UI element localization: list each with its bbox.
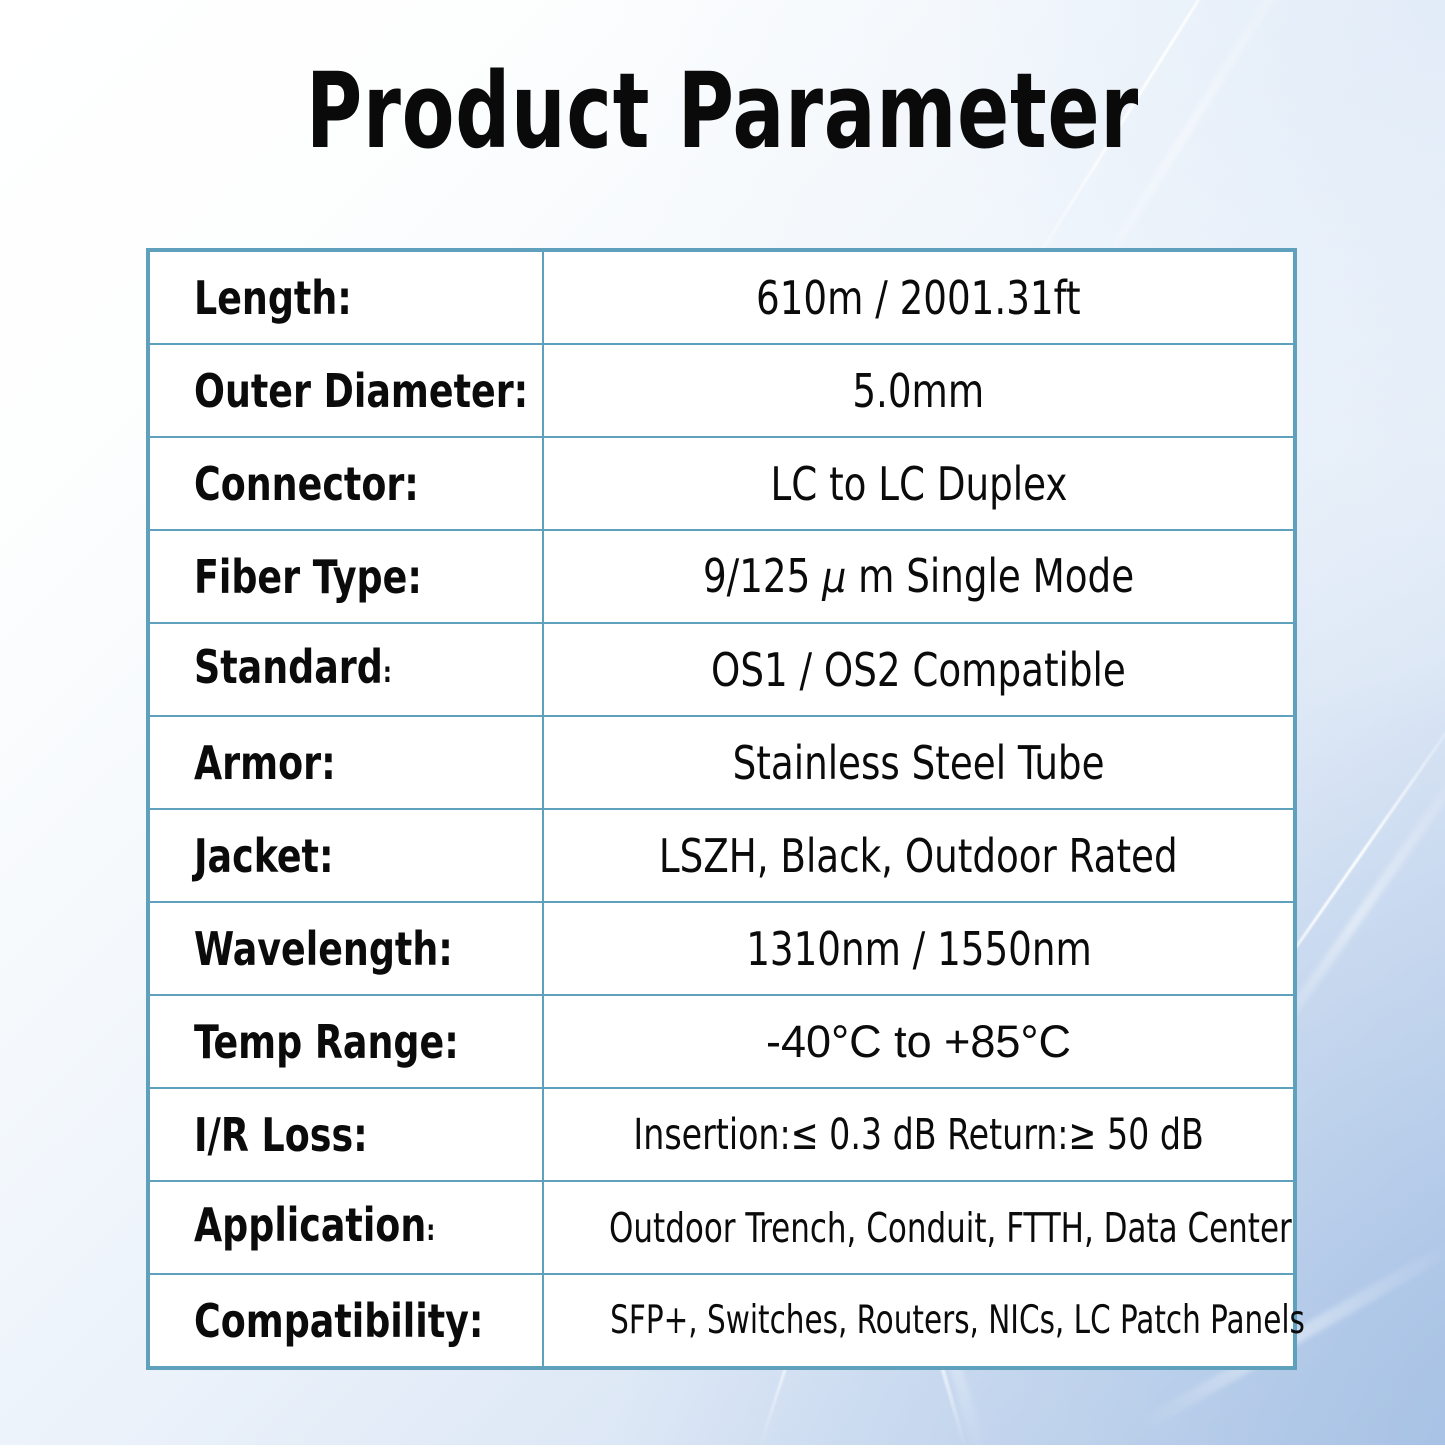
table-row: I/R Loss: Insertion:≤ 0.3 dB Return:≥ 50… [148, 1088, 1295, 1181]
row-label-compatibility: Compatibility: [148, 1274, 543, 1368]
label-text: Length: [194, 272, 352, 324]
value-text: 610m / 2001.31ft [756, 272, 1081, 324]
value-text: LC to LC Duplex [770, 458, 1067, 510]
row-label-length: Length: [148, 250, 543, 344]
label-colon: : [383, 655, 392, 688]
fiber-prefix: 9/125 [703, 549, 822, 603]
label-word: Standard [194, 640, 383, 694]
row-value-application: Outdoor Trench, Conduit, FTTH, Data Cent… [543, 1181, 1295, 1274]
value-text: 5.0mm [853, 365, 985, 417]
row-value-jacket: LSZH, Black, Outdoor Rated [543, 809, 1295, 902]
table-row: Application: Outdoor Trench, Conduit, FT… [148, 1181, 1295, 1274]
label-text: Outer Diameter: [194, 365, 528, 417]
row-label-standard: Standard: [148, 623, 543, 716]
row-label-outer-diameter: Outer Diameter: [148, 344, 543, 437]
label-text: Compatibility: [194, 1295, 483, 1347]
label-text: Fiber Type: [194, 551, 422, 603]
value-text: SFP+, Switches, Routers, NICs, LC Patch … [610, 1295, 1305, 1347]
row-value-wavelength: 1310nm / 1550nm [543, 902, 1295, 995]
value-text: Stainless Steel Tube [733, 737, 1105, 789]
row-value-standard: OS1 / OS2 Compatible [543, 623, 1295, 716]
row-label-ir-loss: I/R Loss: [148, 1088, 543, 1181]
value-text: 9/125 μ m Single Mode [703, 550, 1134, 604]
row-label-armor: Armor: [148, 716, 543, 809]
table-row: Length: 610m / 2001.31ft [148, 250, 1295, 344]
table-row: Compatibility: SFP+, Switches, Routers, … [148, 1274, 1295, 1368]
micro-symbol: μ [822, 553, 846, 602]
table-row: Temp Range: -40°C to +85°C [148, 995, 1295, 1088]
label-text: Temp Range: [194, 1016, 459, 1068]
row-value-compatibility: SFP+, Switches, Routers, NICs, LC Patch … [543, 1274, 1295, 1368]
label-text: Armor: [194, 737, 336, 789]
table-row: Jacket: LSZH, Black, Outdoor Rated [148, 809, 1295, 902]
label-text: Connector: [194, 458, 419, 510]
row-value-length: 610m / 2001.31ft [543, 250, 1295, 344]
row-label-wavelength: Wavelength: [148, 902, 543, 995]
label-text: Wavelength: [194, 923, 453, 975]
row-value-outer-diameter: 5.0mm [543, 344, 1295, 437]
label-text: Application: [194, 1199, 435, 1257]
row-value-armor: Stainless Steel Tube [543, 716, 1295, 809]
value-text: 1310nm / 1550nm [746, 923, 1092, 975]
label-word: Application [194, 1198, 426, 1252]
row-label-temp-range: Temp Range: [148, 995, 543, 1088]
label-colon: : [426, 1213, 435, 1246]
table-row: Fiber Type: 9/125 μ m Single Mode [148, 530, 1295, 623]
row-value-fiber-type: 9/125 μ m Single Mode [543, 530, 1295, 623]
row-value-temp-range: -40°C to +85°C [543, 995, 1295, 1088]
table-row: Armor: Stainless Steel Tube [148, 716, 1295, 809]
page-title: Product Parameter [130, 52, 1315, 170]
value-text: OS1 / OS2 Compatible [711, 644, 1126, 696]
value-text: Insertion:≤ 0.3 dB Return:≥ 50 dB [633, 1109, 1203, 1161]
table-row: Wavelength: 1310nm / 1550nm [148, 902, 1295, 995]
table-row: Standard: OS1 / OS2 Compatible [148, 623, 1295, 716]
fiber-suffix: m Single Mode [846, 549, 1134, 603]
table-row: Outer Diameter: 5.0mm [148, 344, 1295, 437]
row-label-application: Application: [148, 1181, 543, 1274]
table-row: Connector: LC to LC Duplex [148, 437, 1295, 530]
row-value-ir-loss: Insertion:≤ 0.3 dB Return:≥ 50 dB [543, 1088, 1295, 1181]
row-label-connector: Connector: [148, 437, 543, 530]
label-text: Standard: [194, 641, 392, 699]
value-text: LSZH, Black, Outdoor Rated [659, 830, 1178, 882]
label-text: Jacket: [194, 830, 334, 882]
row-label-jacket: Jacket: [148, 809, 543, 902]
value-text: -40°C to +85°C [766, 1016, 1071, 1068]
row-label-fiber-type: Fiber Type: [148, 530, 543, 623]
label-text: I/R Loss: [194, 1109, 368, 1161]
product-parameter-table: Length: 610m / 2001.31ft Outer Diameter:… [146, 248, 1297, 1370]
value-text: Outdoor Trench, Conduit, FTTH, Data Cent… [609, 1202, 1292, 1254]
row-value-connector: LC to LC Duplex [543, 437, 1295, 530]
